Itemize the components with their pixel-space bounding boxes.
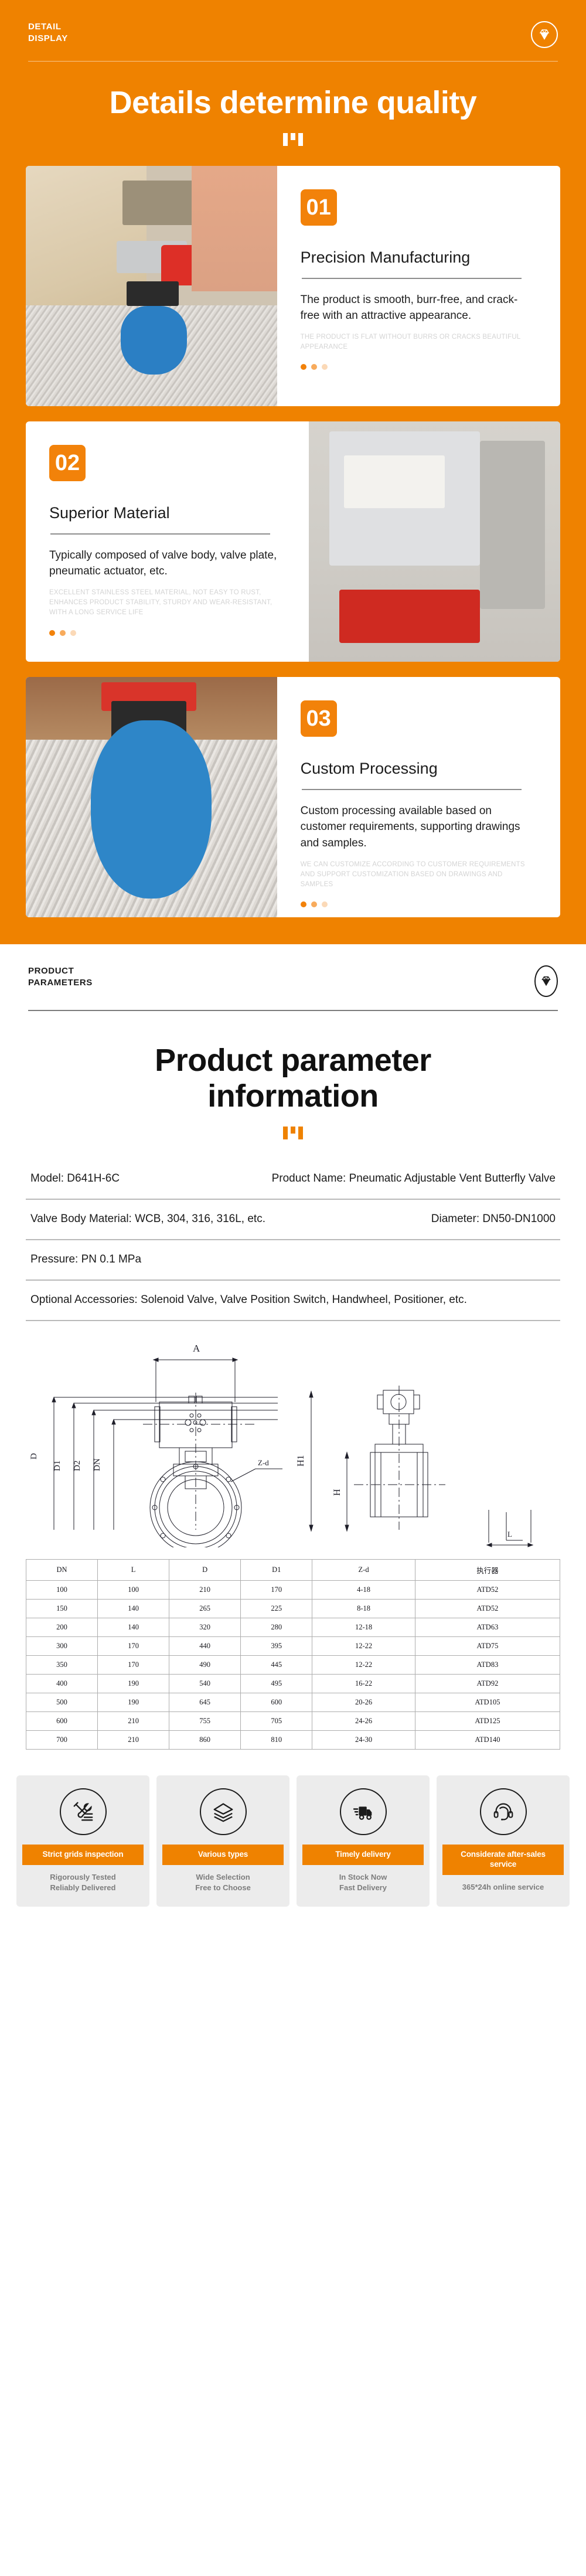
table-header-cell: Z-d [312,1560,415,1581]
table-cell: 705 [241,1712,312,1731]
feature-card-title: Superior Material [49,503,284,522]
table-cell: 170 [241,1581,312,1600]
feature-card-divider [302,278,522,279]
feature-card-photo [26,677,277,917]
table-row: 100 100 210 170 4-18 ATD52 [26,1581,560,1600]
delivery-truck-icon [340,1788,387,1835]
table-cell: 755 [169,1712,241,1731]
table-cell: 300 [26,1637,98,1656]
parameters-title-line1: Product parameter [155,1043,431,1078]
table-cell: 225 [241,1600,312,1618]
service-badge-sub-line1: In Stock Now [339,1873,387,1881]
feature-card-list: 01 Precision Manufacturing The product i… [0,146,586,917]
table-cell: 350 [26,1656,98,1675]
table-cell: 170 [98,1637,169,1656]
parameters-eyebrow-line1: PRODUCT [28,965,93,977]
service-badges-section: Strict grids inspection Rigorously Teste… [0,1755,586,1930]
table-cell: 400 [26,1675,98,1693]
table-cell: 4-18 [312,1581,415,1600]
table-cell: 150 [26,1600,98,1618]
parameter-right: Diameter: DN50-DN1000 [431,1212,556,1227]
table-cell: ATD125 [415,1712,560,1731]
parameters-title-line2: information [207,1078,378,1114]
parameters-eyebrow-line2: PARAMETERS [28,977,93,989]
drawing-label-H1: H1 [296,1455,306,1467]
service-badge-sub-line2: Fast Delivery [339,1883,387,1892]
feature-card-photo [26,166,277,406]
table-cell: 540 [169,1675,241,1693]
table-cell: 8-18 [312,1600,415,1618]
drawing-label-Zd: Z-d [258,1458,269,1467]
feature-card-description: The product is smooth, burr-free, and cr… [301,292,536,324]
table-cell: 12-22 [312,1656,415,1675]
parameters-eyebrow: PRODUCT PARAMETERS [28,965,93,989]
table-cell: 810 [241,1731,312,1750]
table-cell: 320 [169,1618,241,1637]
feature-card-dots [49,630,284,636]
diamond-icon [531,21,558,48]
table-row: 700 210 860 810 24-30 ATD140 [26,1731,560,1750]
table-cell: 280 [241,1618,312,1637]
dimension-table: DN L D D1 Z-d 执行器 100 100 210 170 4-18 A… [26,1559,560,1750]
table-cell: 440 [169,1637,241,1656]
table-cell: 190 [98,1675,169,1693]
detail-eyebrow-line1: DETAIL [28,21,68,33]
technical-drawing: D D1 D2 DN A [26,1336,560,1547]
service-badge-sub: In Stock Now Fast Delivery [339,1872,387,1893]
table-header-row: DN L D D1 Z-d 执行器 [26,1560,560,1581]
service-badge-sub: Wide Selection Free to Choose [195,1872,251,1893]
table-cell: 495 [241,1675,312,1693]
feature-card-number: 03 [301,700,337,737]
feature-card-body: 02 Superior Material Typically composed … [26,421,309,662]
table-row: 600 210 755 705 24-26 ATD125 [26,1712,560,1731]
drawing-label-H: H [332,1489,342,1496]
table-cell: ATD52 [415,1600,560,1618]
detail-eyebrow-line2: DISPLAY [28,33,68,45]
table-cell: 20-26 [312,1693,415,1712]
table-cell: 24-26 [312,1712,415,1731]
service-badge-sub-line1: Wide Selection [196,1873,250,1881]
drawing-label-L: L [507,1530,512,1539]
table-cell: 210 [98,1712,169,1731]
parameter-row: Optional Accessories: Solenoid Valve, Va… [26,1281,560,1321]
table-cell: ATD92 [415,1675,560,1693]
detail-eyebrow: DETAIL DISPLAY [28,21,68,45]
feature-card-subtext: WE CAN CUSTOMIZE ACCORDING TO CUSTOMER R… [301,860,536,890]
service-badge-sub: 365*24h online service [462,1882,544,1893]
table-cell: 100 [26,1581,98,1600]
table-cell: 190 [98,1693,169,1712]
feature-card-number: 02 [49,445,86,481]
table-cell: 445 [241,1656,312,1675]
layers-icon [200,1788,247,1835]
parameter-row: Model: D641H-6C Product Name: Pneumatic … [26,1159,560,1200]
feature-card-divider [302,789,522,790]
table-header-cell: D1 [241,1560,312,1581]
table-cell: 140 [98,1600,169,1618]
table-cell: ATD83 [415,1656,560,1675]
table-row: 400 190 540 495 16-22 ATD92 [26,1675,560,1693]
parameters-section-header: PRODUCT PARAMETERS [0,944,586,997]
parameter-left: Model: D641H-6C [30,1171,257,1187]
detail-section-header: DETAIL DISPLAY [0,0,586,48]
service-badge-sub-line2: Free to Choose [195,1883,251,1892]
diamond-icon [534,965,558,997]
table-cell: 140 [98,1618,169,1637]
service-badge-sub-line2: Reliably Delivered [50,1883,115,1892]
feature-card-description: Custom processing available based on cus… [301,803,536,852]
table-header-cell: D [169,1560,241,1581]
table-cell: 24-30 [312,1731,415,1750]
feature-card-body: 03 Custom Processing Custom processing a… [277,677,560,917]
feature-card-title: Custom Processing [301,759,536,778]
table-cell: 395 [241,1637,312,1656]
service-badge: Timely delivery In Stock Now Fast Delive… [297,1775,430,1907]
table-cell: 170 [98,1656,169,1675]
table-cell: 200 [26,1618,98,1637]
service-badge-tag: Strict grids inspection [22,1845,144,1865]
table-cell: 210 [169,1581,241,1600]
service-badge: Various types Wide Selection Free to Cho… [156,1775,289,1907]
table-row: 150 140 265 225 8-18 ATD52 [26,1600,560,1618]
service-badge-tag: Timely delivery [302,1845,424,1865]
table-cell: 600 [26,1712,98,1731]
service-badge-sub-line1: 365*24h online service [462,1883,544,1891]
feature-card-title: Precision Manufacturing [301,248,536,267]
table-cell: 16-22 [312,1675,415,1693]
feature-card-description: Typically composed of valve body, valve … [49,547,284,580]
table-header-cell: 执行器 [415,1560,560,1581]
drawing-label-A: A [193,1343,200,1354]
table-cell: 100 [98,1581,169,1600]
table-row: 300 170 440 395 12-22 ATD75 [26,1637,560,1656]
feature-card-number: 01 [301,189,337,226]
service-badge-tag: Considerate after-sales service [442,1845,564,1875]
parameter-row: Valve Body Material: WCB, 304, 316, 316L… [26,1200,560,1240]
parameters-title-ornament [0,1127,586,1139]
table-cell: 600 [241,1693,312,1712]
service-badge-sub: Rigorously Tested Reliably Delivered [50,1872,115,1893]
table-cell: ATD52 [415,1581,560,1600]
feature-card-body: 01 Precision Manufacturing The product i… [277,166,560,406]
table-header-cell: L [98,1560,169,1581]
parameter-right: Product Name: Pneumatic Adjustable Vent … [272,1171,556,1187]
feature-card-subtext: EXCELLENT STAINLESS STEEL MATERIAL, NOT … [49,588,284,618]
feature-card-dots [301,364,536,370]
parameter-left: Pressure: PN 0.1 MPa [30,1252,556,1268]
parameter-left: Valve Body Material: WCB, 304, 316, 316L… [30,1212,416,1227]
table-cell: 700 [26,1731,98,1750]
page-title: Details determine quality [0,62,586,120]
table-row: 500 190 645 600 20-26 ATD105 [26,1693,560,1712]
product-parameters-section: PRODUCT PARAMETERS Product parameter inf… [0,944,586,1755]
table-cell: 265 [169,1600,241,1618]
feature-card-divider [50,533,270,535]
service-badge: Considerate after-sales service 365*24h … [437,1775,570,1907]
drawing-label-D: D [29,1453,39,1459]
table-cell: 210 [98,1731,169,1750]
service-badge-tag: Various types [162,1845,284,1865]
service-badge-sub-line1: Rigorously Tested [50,1873,115,1881]
feature-card: 03 Custom Processing Custom processing a… [26,677,560,917]
table-cell: ATD75 [415,1637,560,1656]
parameters-title: Product parameter information [0,1011,586,1114]
table-row: 200 140 320 280 12-18 ATD63 [26,1618,560,1637]
table-cell: ATD63 [415,1618,560,1637]
service-badge: Strict grids inspection Rigorously Teste… [16,1775,149,1907]
table-cell: 860 [169,1731,241,1750]
table-cell: ATD140 [415,1731,560,1750]
parameter-rows: Model: D641H-6C Product Name: Pneumatic … [0,1159,586,1321]
table-row: 350 170 490 445 12-22 ATD83 [26,1656,560,1675]
table-cell: 12-22 [312,1637,415,1656]
table-cell: ATD105 [415,1693,560,1712]
table-cell: 490 [169,1656,241,1675]
feature-card: 02 Superior Material Typically composed … [26,421,560,662]
parameter-left: Optional Accessories: Solenoid Valve, Va… [30,1292,556,1308]
detail-display-section: DETAIL DISPLAY Details determine quality [0,0,586,944]
feature-card-dots [301,901,536,907]
dimension-table-wrapper: DN L D D1 Z-d 执行器 100 100 210 170 4-18 A… [26,1559,560,1750]
table-cell: 500 [26,1693,98,1712]
parameter-row: Pressure: PN 0.1 MPa [26,1240,560,1281]
feature-card: 01 Precision Manufacturing The product i… [26,166,560,406]
table-header-cell: DN [26,1560,98,1581]
wrench-screwdriver-icon [60,1788,107,1835]
dimension-table-body: 100 100 210 170 4-18 ATD52 150 140 265 2… [26,1581,560,1750]
table-cell: 12-18 [312,1618,415,1637]
table-cell: 645 [169,1693,241,1712]
feature-card-photo [309,421,560,662]
headset-support-icon [480,1788,527,1835]
feature-card-subtext: THE PRODUCT IS FLAT WITHOUT BURRS OR CRA… [301,332,536,353]
title-ornament [0,133,586,146]
